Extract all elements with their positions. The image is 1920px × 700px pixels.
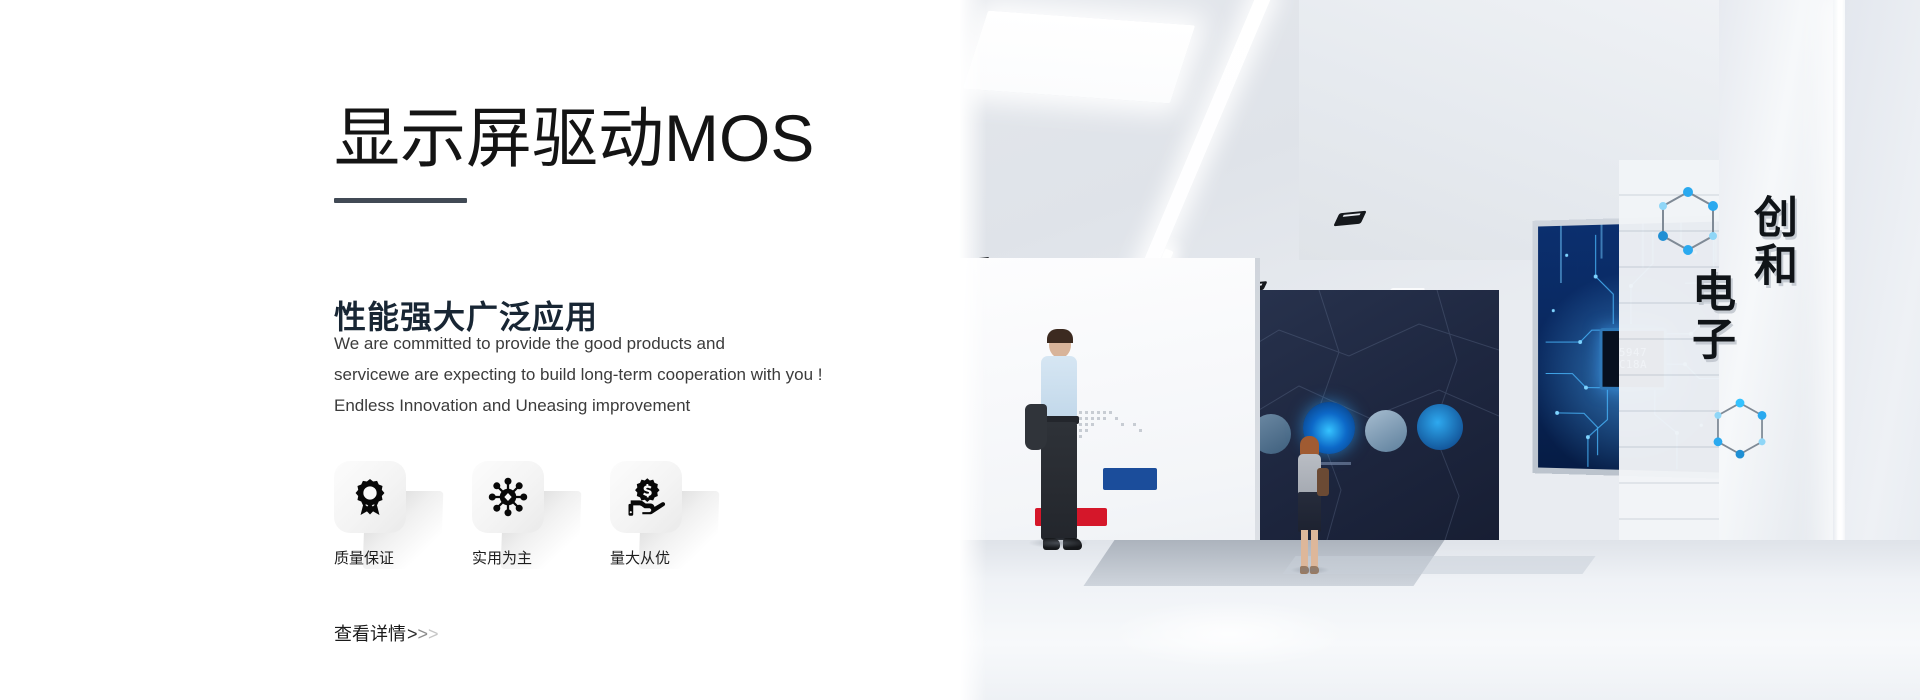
hexagon-molecule-icon — [1651, 184, 1725, 268]
hero-banner: 5947 C18A 创和 电子 — [0, 0, 1920, 700]
view-detail-link[interactable]: 查看详情 > > > — [334, 620, 438, 646]
photo-left-fade — [959, 0, 987, 700]
feature-list: 质量保证 — [334, 461, 690, 568]
signage-column-1: 创和 — [1745, 194, 1797, 290]
feature-label: 实用为主 — [472, 547, 532, 568]
exhibit-circle-display — [1417, 404, 1463, 450]
showroom-photo: 5947 C18A 创和 电子 — [959, 0, 1920, 700]
description-paragraph: We are committed to provide the good pro… — [334, 328, 894, 421]
floor-reflection — [1109, 600, 1349, 668]
network-hub-icon — [487, 476, 529, 518]
chevron-2-icon: > — [418, 624, 428, 645]
person-businessman — [1023, 332, 1095, 572]
skylight-panel — [963, 11, 1196, 104]
feature-item-bulk-discount[interactable]: 量大从优 — [610, 461, 690, 568]
feature-item-quality[interactable]: 质量保证 — [334, 461, 414, 568]
chevron-3-icon: > — [428, 624, 438, 645]
person-businesswoman — [1287, 438, 1333, 580]
wall-signage: 创和 电子 — [1649, 190, 1819, 430]
description-line-3: Endless Innovation and Uneasing improvem… — [334, 390, 894, 421]
hexagon-molecule-icon — [1707, 396, 1773, 470]
exhibit-circle-display — [1365, 410, 1407, 452]
feature-tile — [610, 461, 682, 533]
page-title: 显示屏驱动MOS — [334, 102, 814, 175]
feature-tile — [334, 461, 406, 533]
description-line-1: We are committed to provide the good pro… — [334, 328, 894, 359]
feature-item-practical[interactable]: 实用为主 — [472, 461, 552, 568]
signage-column-2: 电子 — [1683, 268, 1735, 364]
view-detail-label: 查看详情 — [334, 620, 406, 646]
feature-tile — [472, 461, 544, 533]
blue-wall-plaque — [1103, 468, 1157, 490]
title-divider — [334, 198, 467, 203]
award-medal-icon — [349, 476, 391, 518]
description-line-2: servicewe are expecting to build long-te… — [334, 359, 894, 390]
feature-label: 质量保证 — [334, 547, 394, 568]
feature-label: 量大从优 — [610, 547, 670, 568]
chevron-1-icon: > — [407, 624, 417, 645]
text-panel: 显示屏驱动MOS 性能强大广泛应用 We are committed to pr… — [0, 0, 959, 700]
hand-holding-coin-icon — [625, 476, 667, 518]
